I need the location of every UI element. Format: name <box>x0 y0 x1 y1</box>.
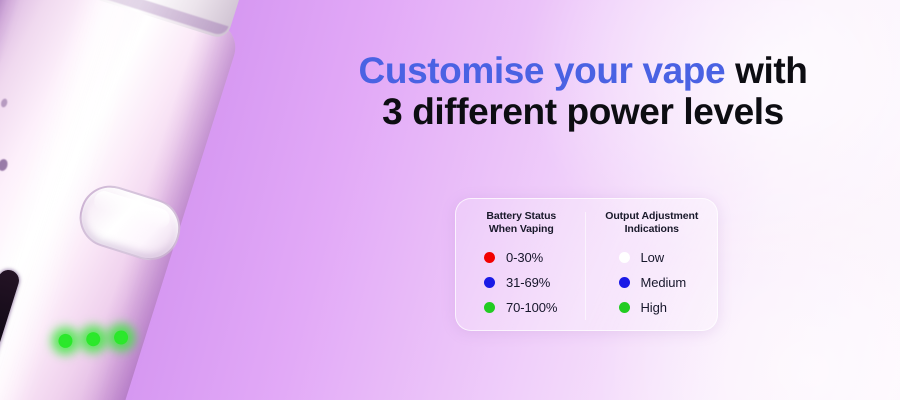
legend-item-label: 31-69% <box>506 275 550 290</box>
legend-item-label: Medium <box>641 275 687 290</box>
legend-item: Low <box>619 245 718 270</box>
promo-banner: Customise your vape with 3 different pow… <box>0 0 900 400</box>
legend-card: Battery Status When Vaping 0-30% 31-69% … <box>455 198 718 331</box>
legend-title-battery-status: Battery Status When Vaping <box>486 210 556 236</box>
legend-item: 70-100% <box>484 295 587 320</box>
headline-accent-text: Customise your vape <box>359 50 726 91</box>
led-indicator-2 <box>84 330 102 348</box>
status-dot-icon <box>619 302 630 313</box>
status-dot-icon <box>484 302 495 313</box>
legend-column-output-adjustment: Output Adjustment Indications Low Medium… <box>587 210 718 330</box>
headline-line2: 3 different power levels <box>300 91 866 132</box>
legend-item: 0-30% <box>484 245 587 270</box>
legend-item: High <box>619 295 718 320</box>
legend-item-label: High <box>641 300 667 315</box>
legend-item: Medium <box>619 270 718 295</box>
legend-item-label: 0-30% <box>506 250 543 265</box>
headline-line1-rest: with <box>725 50 807 91</box>
legend-item-label: Low <box>641 250 665 265</box>
legend-items-output-adjustment: Low Medium High <box>587 245 718 320</box>
status-dot-icon <box>619 277 630 288</box>
headline: Customise your vape with 3 different pow… <box>300 50 866 133</box>
legend-item-label: 70-100% <box>506 300 557 315</box>
led-indicator-3 <box>112 329 130 347</box>
legend-column-battery-status: Battery Status When Vaping 0-30% 31-69% … <box>456 210 587 330</box>
led-indicator-1 <box>57 332 75 350</box>
legend-item: 31-69% <box>484 270 587 295</box>
status-dot-icon <box>619 252 630 263</box>
vape-pod-device <box>0 0 276 400</box>
legend-items-battery-status: 0-30% 31-69% 70-100% <box>456 245 587 320</box>
status-dot-icon <box>484 252 495 263</box>
legend-title-output-adjustment: Output Adjustment Indications <box>605 210 698 236</box>
status-dot-icon <box>484 277 495 288</box>
